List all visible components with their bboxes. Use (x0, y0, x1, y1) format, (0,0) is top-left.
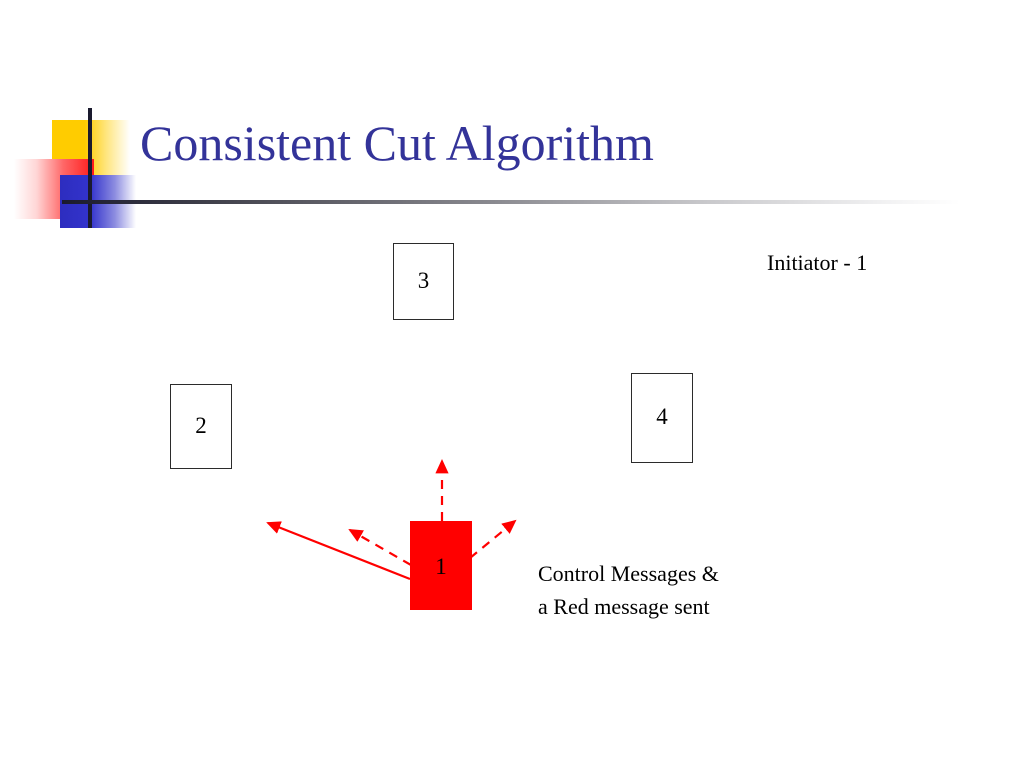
node-box-1-initiator: 1 (410, 521, 472, 610)
node-box-4: 4 (631, 373, 693, 463)
slide-logo-decoration (0, 95, 160, 240)
logo-vertical-rule (88, 108, 92, 228)
logo-horizontal-rule (62, 200, 960, 204)
slide-canvas: Consistent Cut Algorithm 3 2 4 1 Initiat… (0, 0, 1024, 768)
node-box-3: 3 (393, 243, 454, 320)
page-title: Consistent Cut Algorithm (140, 112, 654, 174)
control-messages-line-1: Control Messages & (538, 557, 719, 590)
dashed-arrow-left-icon (350, 530, 411, 565)
control-messages-line-2: a Red message sent (538, 590, 719, 623)
node-label-4: 4 (656, 404, 668, 430)
node-label-1: 1 (435, 554, 447, 580)
initiator-label: Initiator - 1 (767, 250, 867, 276)
node-box-2: 2 (170, 384, 232, 469)
node-label-3: 3 (418, 268, 430, 294)
node-label-2: 2 (195, 413, 207, 439)
control-messages-label: Control Messages & a Red message sent (538, 557, 719, 623)
dashed-arrow-upper-right-icon (470, 521, 515, 558)
solid-arrow-upper-left-icon (268, 523, 410, 579)
